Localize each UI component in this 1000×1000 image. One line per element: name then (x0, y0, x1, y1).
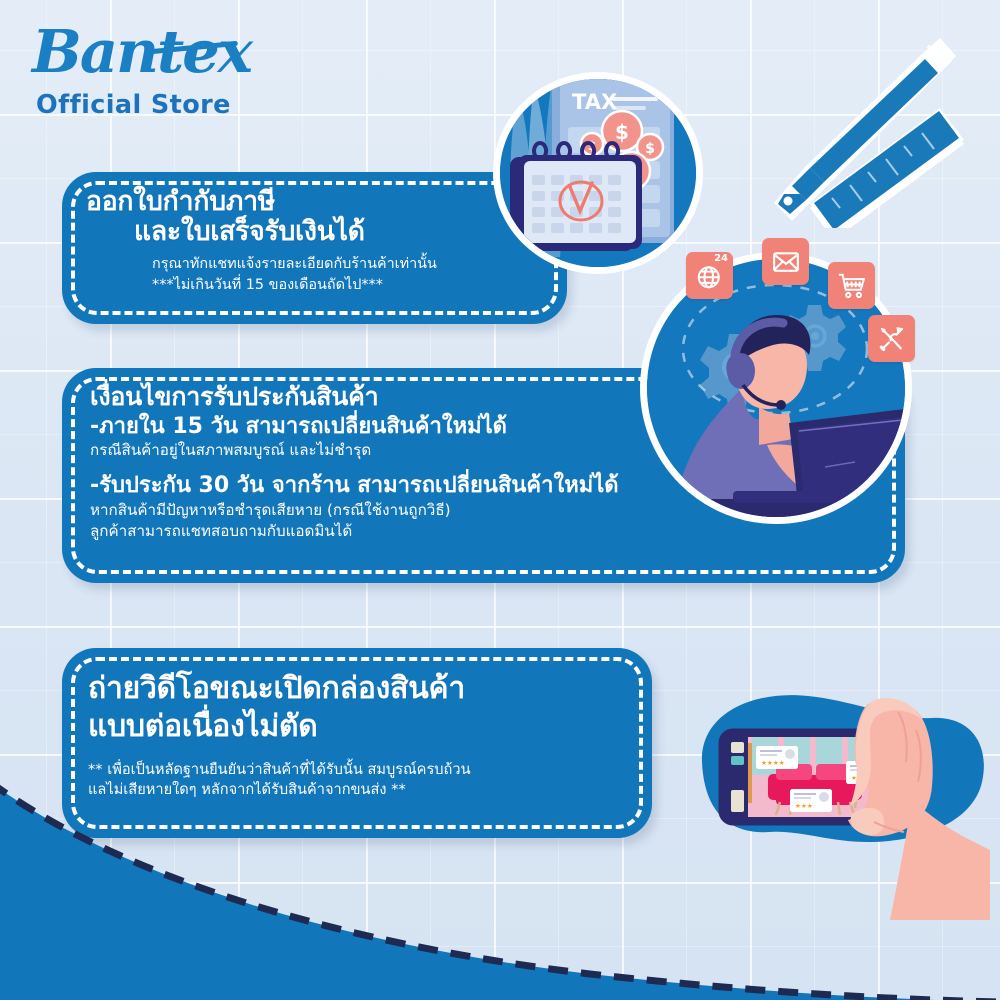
svg-text:$: $ (615, 120, 629, 144)
card-warranty-note-2-line2: ลูกค้าสามารถแชทสอบถามกับแอดมินได้ (90, 521, 905, 541)
tools-icon (868, 315, 915, 362)
tax-illustration-circle: TAX $ $ $ $ (493, 72, 703, 274)
pen-and-ruler-illustration (770, 18, 996, 228)
card-warranty-bullet-2: -รับประกัน 30 วัน จากร้าน สามารถเปลี่ยนส… (90, 473, 905, 499)
globe-24-label: 24 (714, 253, 728, 264)
tax-scene: TAX $ $ $ $ (500, 79, 696, 267)
card-tax-title-line2: และใบเสร็จรับเงินได้ (86, 218, 567, 246)
card-video-subtext: ** เพื่อเป็นหลัดฐานยืนยันว่าสินค้าที่ได้… (88, 760, 652, 800)
poster-canvas: Bantex Official Store (0, 0, 1000, 1000)
svg-text:★★★★: ★★★★ (761, 759, 785, 767)
card-tax-subtext: กรุณาทักแชทแจ้งรายละเอียดกับร้านค้าเท่าน… (86, 255, 567, 294)
svg-text:$: $ (645, 141, 655, 157)
svg-text:★★★: ★★★ (795, 802, 813, 810)
card-video-title-line1: ถ่ายวิดีโอขณะเปิดกล่องสินค้า (88, 670, 652, 708)
card-video-sub-line2: แลไม่เสียหายใดๆ หลักจากได้รับสินค้าจากขน… (88, 780, 652, 800)
card-warranty-terms: เงื่อนไขการรับประกันสินค้า -ภายใน 15 วัน… (62, 368, 905, 583)
card-tax-sub-line2: ***ไม่เกินวันที่ 15 ของเดือนถัดไป*** (152, 276, 567, 294)
card-warranty-note-2-line1: หากสินค้ามีปัญหาหรือชำรุดเสียหาย (กรณีใช… (90, 500, 905, 520)
card-warranty-note-1: กรณีสินค้าอยู่ในสภาพสมบูรณ์ และไม่ชำรุด (90, 440, 905, 460)
mail-icon (762, 238, 809, 285)
shopping-cart-icon (828, 262, 875, 309)
card-tax-sub-line1: กรุณาทักแชทแจ้งรายละเอียดกับร้านค้าเท่าน… (152, 255, 567, 273)
card-warranty-title: เงื่อนไขการรับประกันสินค้า (90, 384, 905, 411)
brand-subtitle: Official Store (36, 90, 251, 120)
brand-name-text: Bantex (32, 17, 251, 86)
tax-label: TAX (572, 90, 617, 114)
card-video-sub-line1: ** เพื่อเป็นหลัดฐานยืนยันว่าสินค้าที่ได้… (88, 760, 652, 780)
brand-logo: Bantex Official Store (32, 22, 251, 120)
unboxing-phone-illustration: ★★★★ ★★★★★ ★★★ (660, 690, 990, 920)
card-video-title: ถ่ายวิดีโอขณะเปิดกล่องสินค้า แบบต่อเนื่อ… (88, 670, 652, 747)
calendar-icon (510, 143, 642, 251)
brand-wordmark: Bantex (32, 22, 251, 81)
globe-24-icon: 24 (686, 252, 733, 299)
card-tax-title-line1: ออกใบกำกับภาษี (86, 186, 275, 217)
card-tax-title: ออกใบกำกับภาษี และใบเสร็จรับเงินได้ (86, 188, 567, 246)
card-warranty-bullet-1: -ภายใน 15 วัน สามารถเปลี่ยนสินค้าใหม่ได้ (90, 414, 905, 440)
card-tax-invoice: ออกใบกำกับภาษี และใบเสร็จรับเงินได้ กรุณ… (62, 172, 567, 324)
card-video-title-line2: แบบต่อเนื่องไม่ตัด (88, 708, 652, 746)
